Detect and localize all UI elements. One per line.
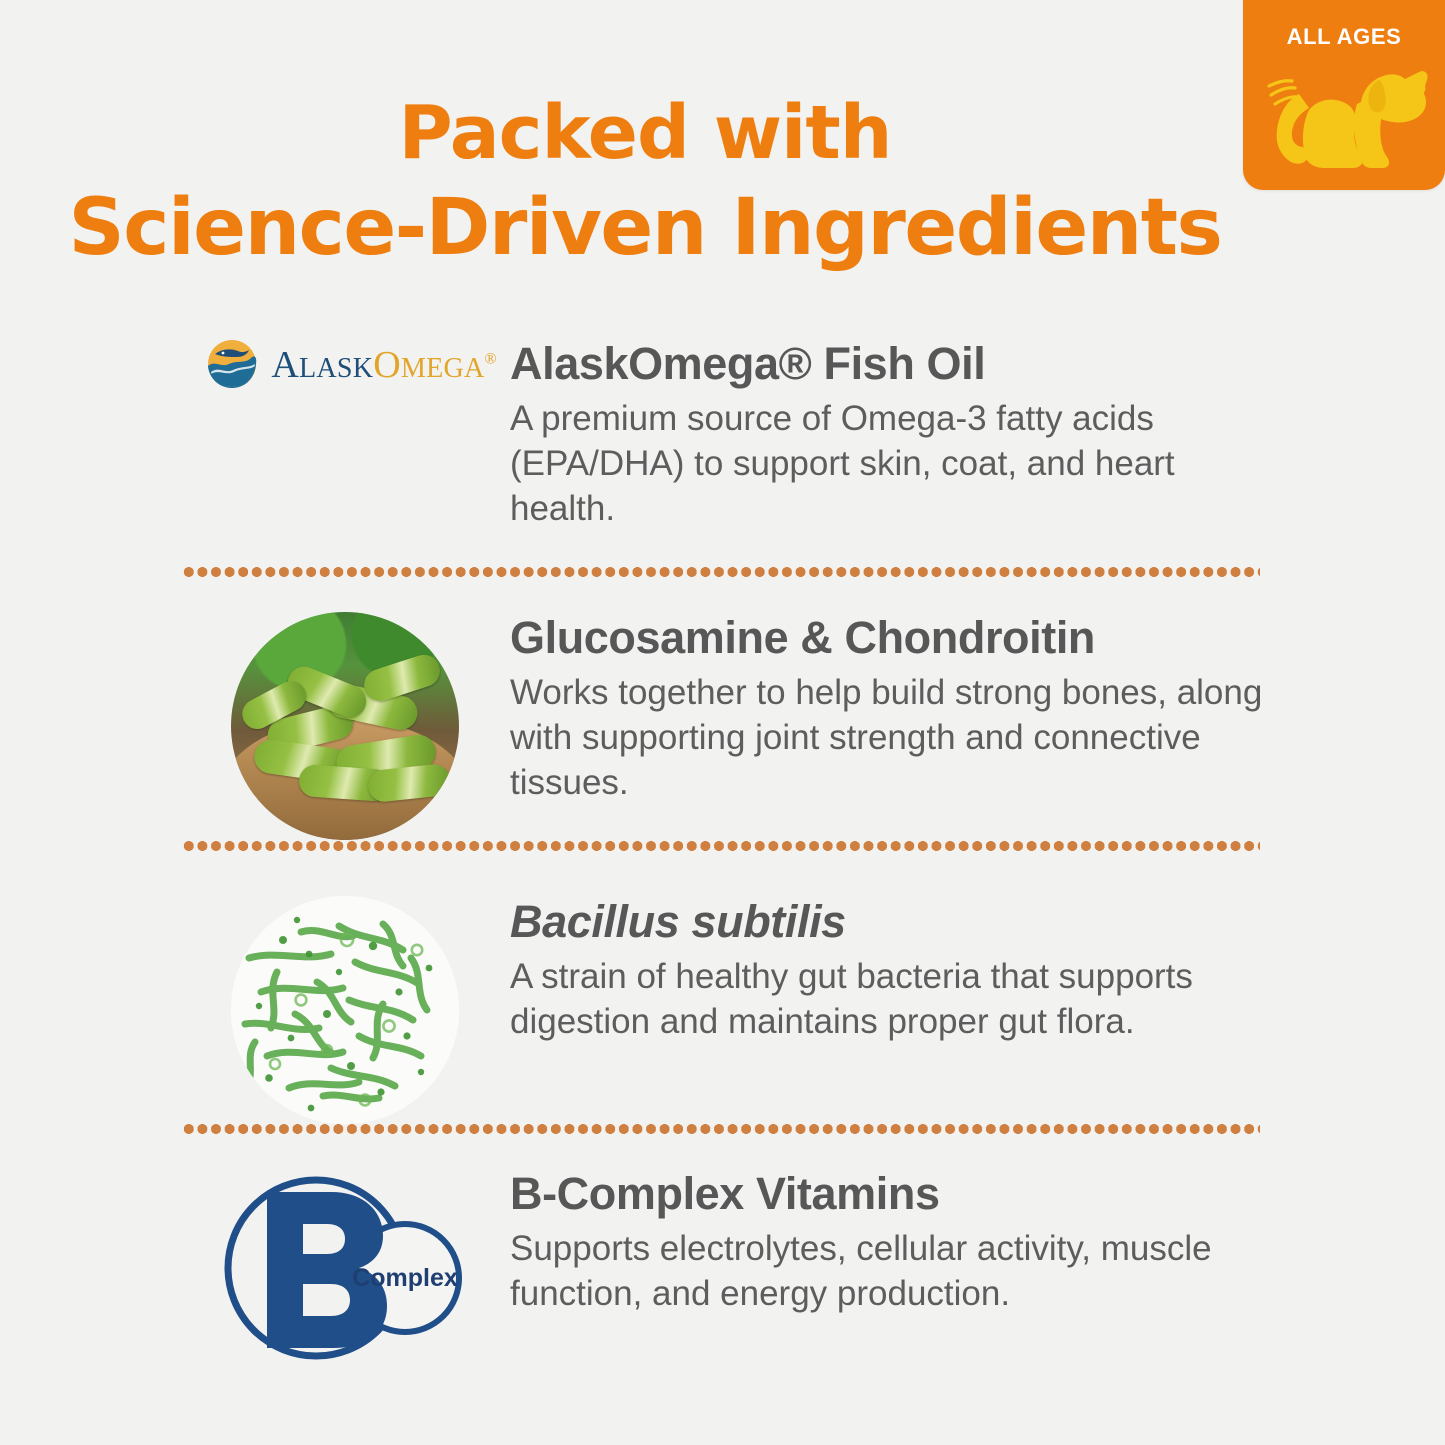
alaskomega-emblem-icon: [205, 338, 261, 390]
ingredient-title: B-Complex Vitamins: [510, 1170, 1265, 1217]
section-divider: [182, 567, 1260, 577]
all-ages-badge: ALL AGES: [1243, 0, 1445, 190]
headline-line-2: Science-Driven Ingredients: [30, 180, 1260, 277]
alaskomega-logo: ALASKOMEGA®: [205, 338, 496, 390]
alaskomega-word-alask: ALASK: [271, 344, 373, 386]
ingredient-body: Bacillus subtilis A strain of healthy gu…: [510, 896, 1265, 1045]
ingredient-row-glucosamine: Glucosamine & Chondroitin Works together…: [180, 612, 1265, 840]
section-divider: [182, 1124, 1260, 1134]
ingredient-body: B-Complex Vitamins Supports electrolytes…: [510, 1168, 1265, 1317]
green-capsules-photo: [231, 612, 459, 840]
sitting-dog-icon: [1257, 58, 1433, 176]
ingredient-body: Glucosamine & Chondroitin Works together…: [510, 612, 1265, 806]
b-complex-logo: Complex: [219, 1168, 471, 1368]
ingredient-description: Supports electrolytes, cellular activity…: [510, 1227, 1265, 1317]
page-title: Packed with Science-Driven Ingredients: [30, 88, 1260, 276]
ingredient-description: A strain of healthy gut bacteria that su…: [510, 955, 1265, 1045]
section-divider: [182, 841, 1260, 851]
ingredient-body: AlaskOmega® Fish Oil A premium source of…: [510, 338, 1265, 532]
bacteria-microscopy-photo: [231, 896, 459, 1124]
alaskomega-word-omega: OMEGA: [373, 344, 484, 386]
bacteria-rods-icon: [231, 896, 459, 1124]
alaskomega-wordmark: ALASKOMEGA®: [271, 346, 496, 384]
ingredient-row-alaskomega: ALASKOMEGA® AlaskOmega® Fish Oil A premi…: [180, 338, 1265, 532]
ingredient-title: AlaskOmega® Fish Oil: [510, 340, 1265, 387]
headline-line-1: Packed with: [30, 88, 1260, 180]
ingredient-description: Works together to help build strong bone…: [510, 671, 1265, 805]
b-complex-sub-label: Complex: [352, 1264, 458, 1292]
ingredient-row-bacillus: Bacillus subtilis A strain of healthy gu…: [180, 896, 1265, 1124]
ingredient-title: Bacillus subtilis: [510, 898, 1265, 945]
ingredient-media: [180, 896, 510, 1124]
ingredient-media: ALASKOMEGA®: [180, 338, 510, 390]
b-complex-icon: Complex: [219, 1168, 471, 1368]
ingredient-media: Complex: [180, 1168, 510, 1368]
ingredient-media: [180, 612, 510, 840]
registered-trademark-icon: ®: [484, 350, 496, 367]
all-ages-label: ALL AGES: [1243, 24, 1445, 50]
ingredient-row-b-complex: Complex B-Complex Vitamins Supports elec…: [180, 1168, 1265, 1368]
ingredient-description: A premium source of Omega-3 fatty acids …: [510, 397, 1265, 531]
ingredient-title: Glucosamine & Chondroitin: [510, 614, 1265, 661]
